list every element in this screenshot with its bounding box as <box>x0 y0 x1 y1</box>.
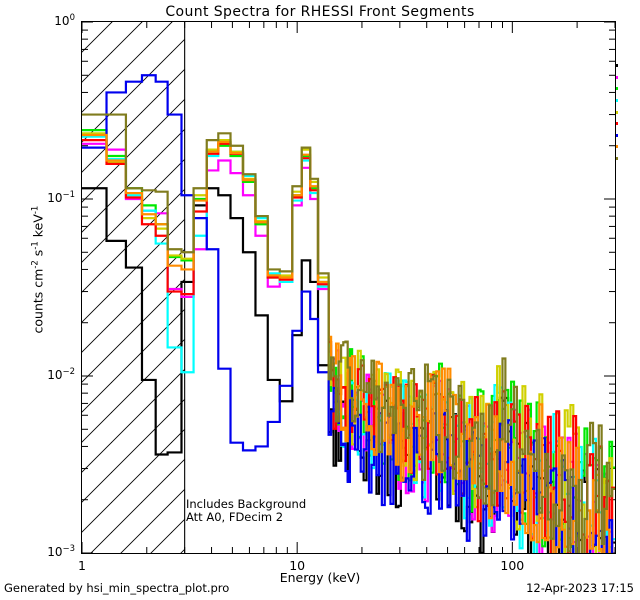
x-tick-label: 100 <box>482 558 542 573</box>
spectra-svg <box>82 22 615 553</box>
page-title: Count Spectra for RHESSI Front Segments <box>0 4 640 20</box>
y-tick-label: 10−2 <box>47 367 75 382</box>
y-axis-label: counts cm-2 s-1 keV-1 <box>30 160 45 380</box>
x-tick-label: 10 <box>267 558 327 573</box>
x-tick-label: 1 <box>52 558 112 573</box>
footer-generated-by: Generated by hsi_min_spectra_plot.pro <box>4 581 229 595</box>
y-tick-label: 100 <box>54 13 75 28</box>
y-tick-label: 10−1 <box>47 190 75 205</box>
annotation-line-2: Att A0, FDecim 2 <box>186 511 306 524</box>
footer-timestamp: 12-Apr-2023 17:15 <box>526 581 634 595</box>
plot-annotation: Includes Background Att A0, FDecim 2 <box>186 498 306 524</box>
y-tick-label: 10−3 <box>47 544 75 559</box>
plot-area[interactable] <box>81 21 616 554</box>
